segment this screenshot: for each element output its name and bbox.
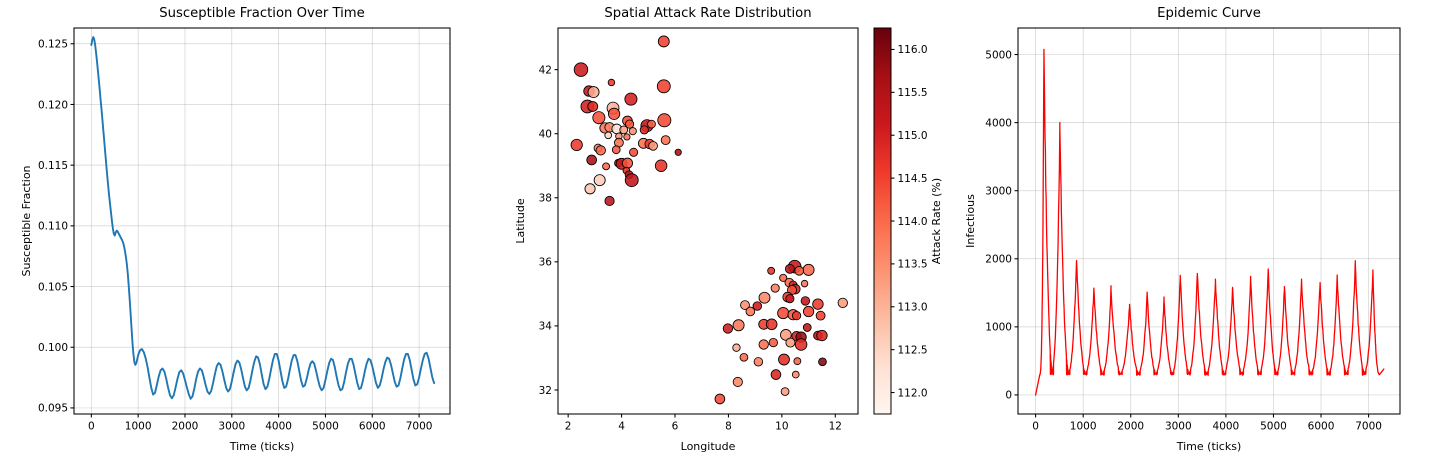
- scatter-point: [603, 163, 610, 170]
- scatter-point: [801, 297, 810, 306]
- scatter-point: [803, 306, 813, 316]
- xtick-label: 3000: [218, 421, 245, 433]
- colorbar-tick-label: 115.0: [898, 130, 928, 142]
- spatial-attack-rate-title: Spatial Attack Rate Distribution: [604, 6, 811, 21]
- xtick-label: 6000: [1308, 421, 1335, 433]
- colorbar-tick-label: 112.5: [898, 344, 928, 356]
- susceptible-fraction-title: Susceptible Fraction Over Time: [159, 6, 365, 21]
- scatter-point: [648, 120, 656, 128]
- xtick-label: 2000: [172, 421, 199, 433]
- figure-three-panel-epidemic-dashboard: 010002000300040005000600070000.0950.1000…: [0, 0, 1430, 470]
- scatter-point: [612, 146, 620, 154]
- ytick-label: 0.120: [38, 99, 68, 111]
- scatter-point: [658, 114, 671, 127]
- scatter-point: [778, 307, 789, 318]
- ytick-label: 2000: [985, 254, 1012, 266]
- scatter-point: [625, 174, 638, 187]
- scatter-point: [629, 128, 636, 135]
- scatter-point: [588, 87, 599, 98]
- ytick-label: 38: [539, 193, 552, 205]
- scatter-point: [723, 324, 732, 333]
- scatter-point: [817, 330, 828, 341]
- scatter-point: [625, 93, 637, 105]
- ytick-label: 0.095: [38, 403, 68, 415]
- scatter-point: [786, 295, 794, 303]
- xtick-label: 6000: [359, 421, 386, 433]
- scatter-point: [587, 155, 597, 165]
- xtick-label: 5000: [312, 421, 339, 433]
- scatter-point: [766, 319, 777, 330]
- scatter-point: [746, 307, 755, 316]
- scatter-point: [816, 311, 825, 320]
- xtick-label: 7000: [1355, 421, 1382, 433]
- scatter-point: [794, 358, 801, 365]
- scatter-point: [759, 292, 770, 303]
- scatter-point: [588, 102, 598, 112]
- scatter-point: [795, 266, 804, 275]
- scatter-point: [771, 284, 779, 292]
- spatial-attack-rate-xaxis-label: Longitude: [681, 440, 736, 453]
- spatial-attack-rate-plot-background: [558, 28, 858, 414]
- xtick-label: 4000: [1213, 421, 1240, 433]
- scatter-point: [585, 184, 595, 194]
- xtick-label: 2: [565, 421, 572, 433]
- scatter-point: [605, 196, 614, 205]
- scatter-point: [657, 80, 670, 93]
- scatter-point: [596, 146, 605, 155]
- scatter-point: [629, 148, 637, 156]
- scatter-point: [608, 79, 615, 86]
- spatial-attack-rate-chart: 24681012323436384042Spatial Attack Rate …: [480, 0, 950, 470]
- susceptible-fraction-yaxis-label: Susceptible Fraction: [20, 165, 33, 276]
- scatter-point: [658, 36, 669, 47]
- scatter-point: [733, 344, 740, 351]
- ytick-label: 0: [1005, 390, 1012, 402]
- susceptible-fraction-chart: 010002000300040005000600070000.0950.1000…: [0, 0, 480, 470]
- ytick-label: 1000: [985, 322, 1012, 334]
- scatter-point: [622, 158, 632, 168]
- ytick-label: 0.110: [38, 221, 68, 233]
- xtick-label: 6: [672, 421, 679, 433]
- epidemic-curve-yaxis-label: Infectious: [964, 194, 977, 248]
- scatter-point: [785, 264, 794, 273]
- scatter-point: [624, 134, 630, 140]
- xtick-label: 1000: [125, 421, 152, 433]
- scatter-point: [792, 371, 799, 378]
- scatter-point: [571, 139, 582, 150]
- scatter-point: [649, 141, 658, 150]
- scatter-point: [781, 388, 789, 396]
- xtick-label: 12: [829, 421, 842, 433]
- scatter-point: [768, 267, 775, 274]
- colorbar-tick-label: 114.0: [898, 216, 928, 228]
- scatter-point: [803, 324, 811, 332]
- spatial-attack-rate-yaxis-label: Latitude: [514, 198, 527, 244]
- scatter-point: [754, 357, 763, 366]
- epidemic-curve-chart: 0100020003000400050006000700001000200030…: [950, 0, 1430, 470]
- colorbar-tick-label: 114.5: [898, 173, 928, 185]
- colorbar-tick-label: 113.5: [898, 259, 928, 271]
- susceptible-fraction-xaxis-label: Time (ticks): [229, 440, 295, 453]
- scatter-point: [813, 299, 824, 310]
- scatter-point: [740, 353, 748, 361]
- scatter-point: [675, 149, 681, 155]
- panel-spatial-attack-rate: 24681012323436384042Spatial Attack Rate …: [480, 0, 950, 470]
- scatter-point: [655, 160, 667, 172]
- scatter-point: [640, 126, 648, 134]
- ytick-label: 0.115: [38, 160, 68, 172]
- ytick-label: 0.125: [38, 39, 68, 51]
- panel-susceptible-fraction: 010002000300040005000600070000.0950.1000…: [0, 0, 480, 470]
- xtick-label: 4: [618, 421, 625, 433]
- susceptible-fraction-plot-background: [74, 28, 450, 414]
- xtick-label: 1000: [1070, 421, 1097, 433]
- xtick-label: 3000: [1165, 421, 1192, 433]
- ytick-label: 3000: [985, 186, 1012, 198]
- ytick-label: 40: [539, 129, 552, 141]
- scatter-point: [574, 63, 588, 77]
- xtick-label: 2000: [1117, 421, 1144, 433]
- scatter-point: [715, 394, 725, 404]
- ytick-label: 32: [539, 385, 552, 397]
- scatter-point: [605, 132, 612, 139]
- ytick-label: 42: [539, 64, 552, 76]
- scatter-point: [661, 136, 670, 145]
- xtick-label: 8: [725, 421, 732, 433]
- panel-epidemic-curve: 0100020003000400050006000700001000200030…: [950, 0, 1430, 470]
- scatter-point: [620, 126, 628, 134]
- scatter-point: [608, 108, 619, 119]
- scatter-point: [769, 338, 777, 346]
- scatter-point: [786, 338, 795, 347]
- colorbar-label: Attack Rate (%): [930, 178, 943, 264]
- scatter-point: [792, 311, 800, 319]
- scatter-point: [771, 370, 781, 380]
- scatter-point: [819, 358, 827, 366]
- xtick-label: 0: [1032, 421, 1039, 433]
- colorbar-ticks: 112.0112.5113.0113.5114.0114.5115.0115.5…: [891, 44, 928, 399]
- colorbar-tick-label: 115.5: [898, 87, 928, 99]
- colorbar-tick-label: 113.0: [898, 302, 928, 314]
- ytick-label: 36: [539, 257, 553, 269]
- scatter-point: [779, 354, 790, 365]
- ytick-label: 0.100: [38, 342, 68, 354]
- epidemic-curve-title: Epidemic Curve: [1157, 6, 1261, 21]
- scatter-point: [795, 339, 807, 351]
- ytick-label: 34: [539, 321, 553, 333]
- xtick-label: 10: [775, 421, 788, 433]
- epidemic-curve-xaxis-label: Time (ticks): [1176, 440, 1242, 453]
- scatter-point: [733, 320, 744, 331]
- scatter-point: [593, 112, 605, 124]
- ytick-label: 0.105: [38, 281, 68, 293]
- ytick-label: 4000: [985, 117, 1012, 129]
- xtick-label: 0: [88, 421, 95, 433]
- scatter-point: [733, 377, 742, 386]
- colorbar-gradient: [874, 28, 891, 414]
- scatter-point: [803, 264, 814, 275]
- scatter-point: [594, 175, 605, 186]
- xtick-label: 4000: [265, 421, 292, 433]
- scatter-point: [759, 340, 768, 349]
- colorbar-tick-label: 112.0: [898, 387, 928, 399]
- scatter-point: [838, 298, 847, 307]
- xtick-label: 7000: [406, 421, 433, 433]
- xtick-label: 5000: [1260, 421, 1287, 433]
- scatter-point: [801, 280, 808, 287]
- colorbar-tick-label: 116.0: [898, 44, 928, 56]
- ytick-label: 5000: [985, 49, 1012, 61]
